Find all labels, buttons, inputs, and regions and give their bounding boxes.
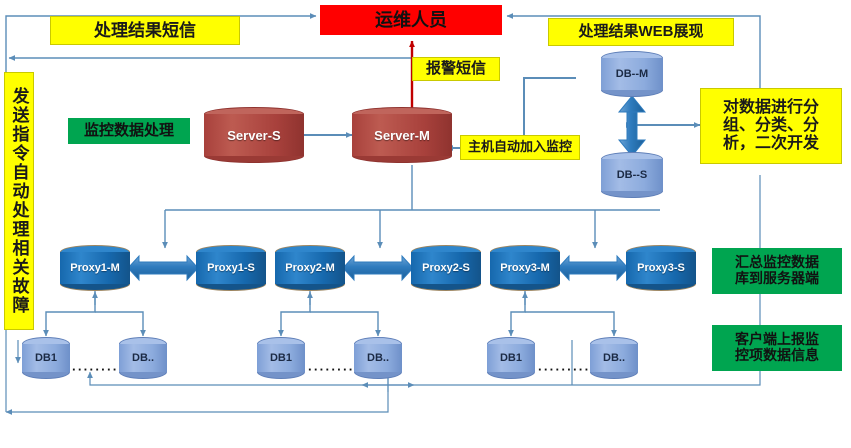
node-proxy1-m[interactable]: Proxy1-M bbox=[60, 245, 130, 291]
label-client-report: 客户端上报监 控项数据信息 bbox=[712, 325, 842, 371]
node-label: DB--M bbox=[601, 51, 663, 97]
label-collect-db: 汇总监控数据 库到服务器端 bbox=[712, 248, 842, 294]
wire-p3-db1 bbox=[511, 290, 525, 336]
label-send-command-vertical: 发送指令自动处理相关故障 bbox=[4, 72, 34, 330]
wire-p2-dbn bbox=[310, 312, 378, 336]
node-label: Proxy1-S bbox=[196, 245, 266, 291]
node-g3-db1[interactable]: DB1 bbox=[487, 337, 535, 379]
node-label: DB1 bbox=[22, 337, 70, 379]
node-label: Proxy2-S bbox=[411, 245, 481, 291]
node-db-m[interactable]: DB--M bbox=[601, 51, 663, 97]
node-label: Server-M bbox=[352, 107, 452, 163]
node-proxy2-m[interactable]: Proxy2-M bbox=[275, 245, 345, 291]
wire-p1-dbn bbox=[95, 312, 143, 336]
wire-p3-dbn bbox=[525, 312, 614, 336]
node-label: DB.. bbox=[590, 337, 638, 379]
node-g2-dbn[interactable]: DB.. bbox=[354, 337, 402, 379]
node-label: Server-S bbox=[204, 107, 304, 163]
node-g1-db1[interactable]: DB1 bbox=[22, 337, 70, 379]
node-label: Proxy2-M bbox=[275, 245, 345, 291]
node-label: DB--S bbox=[601, 152, 663, 198]
node-label: DB1 bbox=[487, 337, 535, 379]
label-monitor-data-process: 监控数据处理 bbox=[68, 118, 190, 144]
node-label: DB.. bbox=[354, 337, 402, 379]
node-proxy3-m[interactable]: Proxy3-M bbox=[490, 245, 560, 291]
node-proxy2-s[interactable]: Proxy2-S bbox=[411, 245, 481, 291]
node-proxy3-s[interactable]: Proxy3-S bbox=[626, 245, 696, 291]
label-result-web: 处理结果WEB展现 bbox=[548, 18, 734, 46]
node-db-s[interactable]: DB--S bbox=[601, 152, 663, 198]
node-label: Proxy1-M bbox=[60, 245, 130, 291]
node-label: Proxy3-M bbox=[490, 245, 560, 291]
label-ops-staff: 运维人员 bbox=[320, 5, 502, 35]
label-alarm-sms: 报警短信 bbox=[412, 57, 500, 81]
node-g3-dbn[interactable]: DB.. bbox=[590, 337, 638, 379]
label-auto-join-monitor: 主机自动加入监控 bbox=[460, 135, 580, 160]
node-proxy1-s[interactable]: Proxy1-S bbox=[196, 245, 266, 291]
wire-p1-db1 bbox=[46, 290, 95, 336]
wire-p2-db1 bbox=[281, 290, 310, 336]
node-server-s[interactable]: Server-S bbox=[204, 107, 304, 163]
node-label: DB.. bbox=[119, 337, 167, 379]
node-label: Proxy3-S bbox=[626, 245, 696, 291]
node-label: DB1 bbox=[257, 337, 305, 379]
node-g1-dbn[interactable]: DB.. bbox=[119, 337, 167, 379]
node-g2-db1[interactable]: DB1 bbox=[257, 337, 305, 379]
label-data-analysis: 对数据进行分 组、分类、分 析，二次开发 bbox=[700, 88, 842, 164]
architecture-diagram: 处理结果短信 运维人员 处理结果WEB展现 报警短信 主机自动加入监控 发送指令… bbox=[0, 0, 851, 448]
node-server-m[interactable]: Server-M bbox=[352, 107, 452, 163]
label-result-sms: 处理结果短信 bbox=[50, 16, 240, 45]
